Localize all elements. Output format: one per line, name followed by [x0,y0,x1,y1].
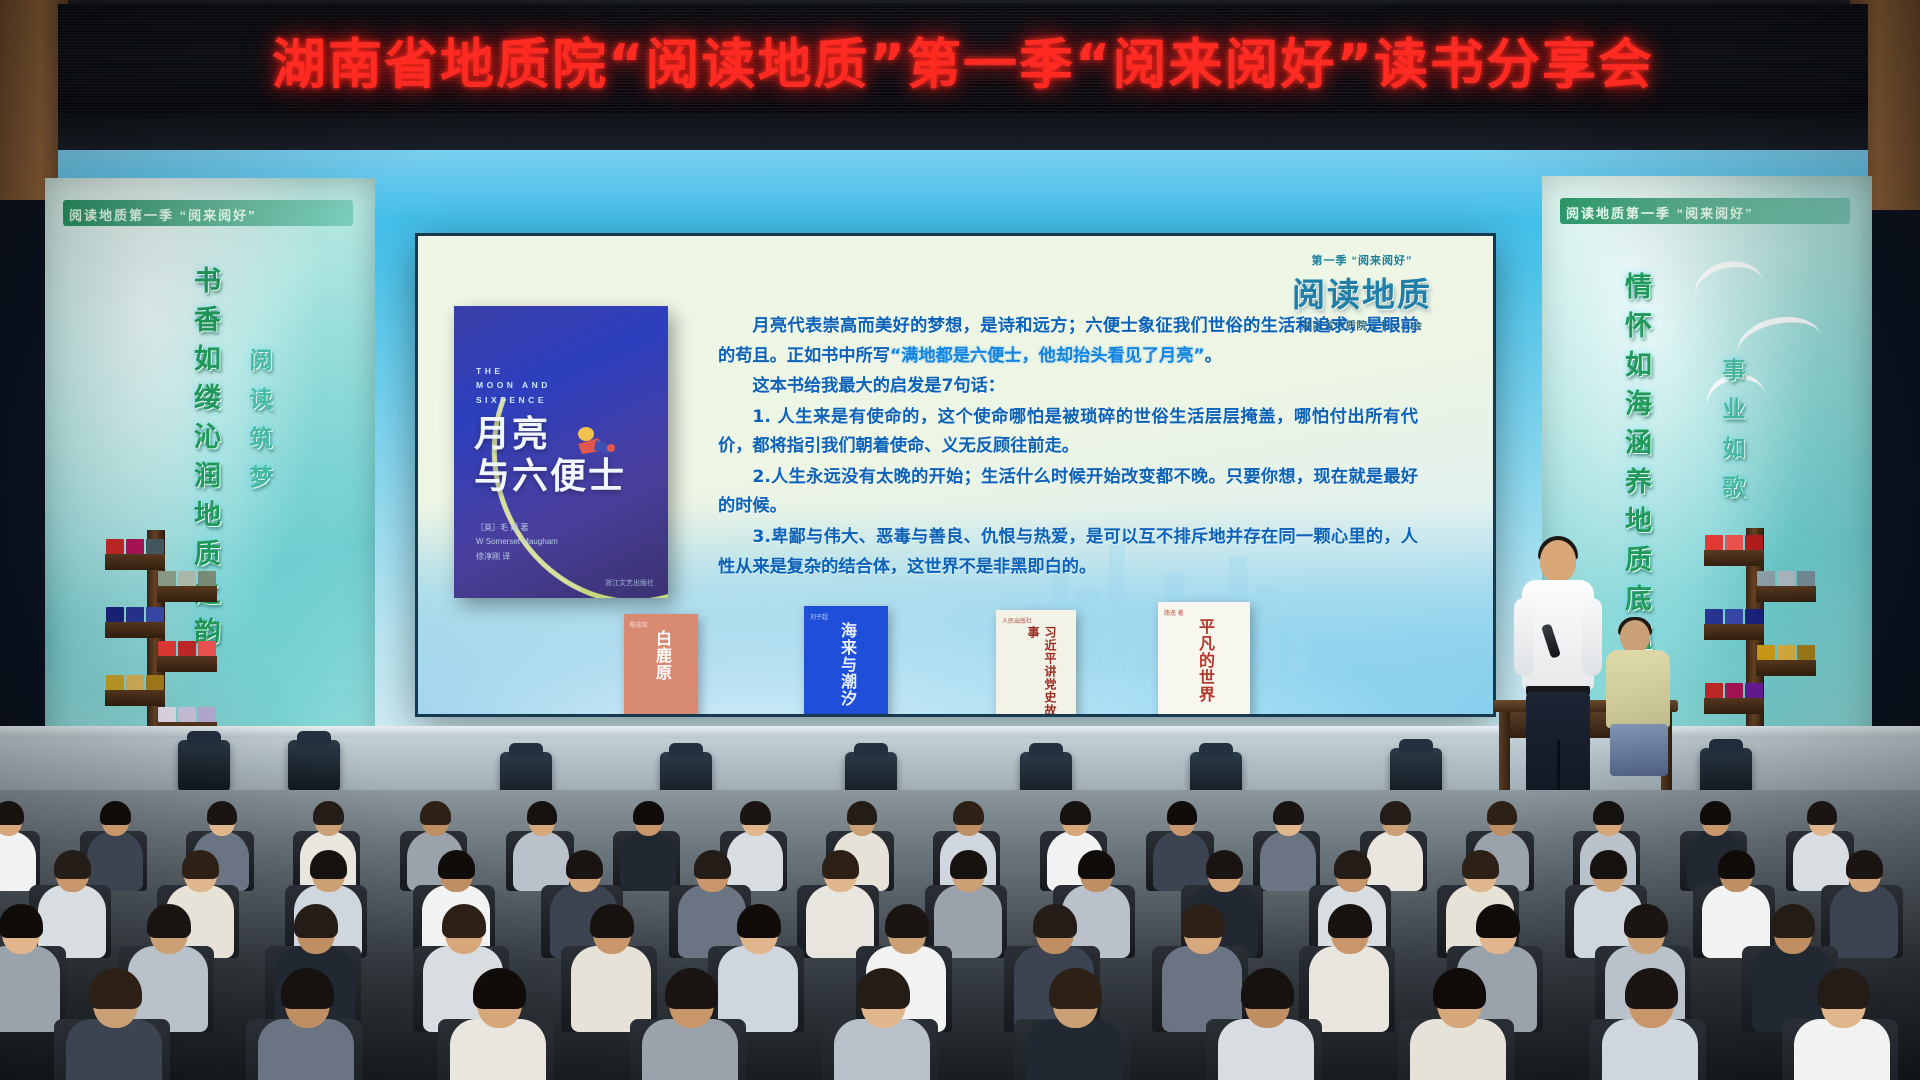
audience-member-hair [438,850,475,879]
seagull-icon [1690,255,1764,297]
bookshelf-shelf [1704,624,1764,640]
audience-member-hair [310,850,347,879]
audience-member-hair [527,801,558,825]
audience-member [1218,966,1314,1080]
slide-text-run: 。 [1205,346,1222,366]
left-panel-topband: 阅读地质第一季 “阅来阅好” [63,200,353,226]
slide-book-author: 路遥 著 [1164,608,1184,617]
audience-member [1830,848,1898,950]
audience-member-hair [1433,968,1486,1009]
host-legs [1610,724,1668,776]
audience-member-hair [590,904,634,938]
slide-book-author: 陈忠实 [630,620,648,629]
audience-member-hair [1590,850,1627,879]
audience-member-hair [442,904,486,938]
seagull-icon-group [1682,256,1842,426]
audience-member-torso [0,946,60,1032]
event-photo-scene: 湖南省地质院“阅读地质”第一季“阅来阅好”读书分享会 阅读地质第一季 “阅来阅好… [0,0,1920,1080]
audience-member-hair [1846,850,1883,879]
audience-member-torso [620,831,676,891]
bookshelf-books [106,539,164,554]
audience-member-hair [633,801,664,825]
audience-member-hair [1273,801,1304,825]
slide-paragraph: 1. 人生来是有使命的，这个使命哪怕是被琐碎的世俗生活层层掩盖，哪怕付出所有代价… [718,403,1418,462]
audience-member [571,902,651,1022]
slide-text-run: 3.卑鄙与伟大、恶毒与善良、仇恨与热爱，是可以互不排斥地并存在同一颗心里的，人性… [718,527,1418,577]
audience-member-hair [885,904,929,938]
audience-member-hair [1241,968,1294,1009]
audience-member-hair [1593,801,1624,825]
slide-body-text: 月亮代表崇高而美好的梦想，是诗和远方；六便士象征我们世俗的生活和追求，是眼前的苟… [718,312,1418,583]
audience-member [258,966,354,1080]
stage-par-light [288,740,340,792]
audience-member-hair [473,968,526,1009]
audience-member [1794,966,1890,1080]
bookshelf-shelf [1704,550,1764,566]
bookshelf-books [1705,683,1763,698]
audience-member-hair [281,968,334,1009]
bookshelf-books [106,675,164,690]
audience-member [66,966,162,1080]
slide-paragraph: 这本书给我最大的启发是7句话： [718,372,1418,402]
book-translator: 徐淳刚 译 [476,550,558,564]
audience-member-hair [207,801,238,825]
audience-member-hair [1060,801,1091,825]
slide-quote-highlight: “满地都是六便士，他却抬头看见了月亮” [890,346,1205,366]
presenter-head [1540,540,1576,582]
slide-book-cover: 海来与潮汐刘子超 [804,606,888,714]
audience-member-hair [0,801,24,825]
slide-paragraph: 2.人生永远没有太晚的开始；生活什么时候开始改变都不晚。只要你想，现在就是最好的… [718,463,1418,522]
audience-member-hair [665,968,718,1009]
slide-paragraph: 月亮代表崇高而美好的梦想，是诗和远方；六便士象征我们世俗的生活和追求，是眼前的苟… [718,312,1418,371]
audience-member [0,902,60,1022]
bookshelf-shelf [1756,660,1816,676]
audience-member-hair [1817,968,1870,1009]
audience-member [642,966,738,1080]
host-torso [1606,650,1670,728]
audience-member-hair [1033,904,1077,938]
slide-book-title: 平凡的世界 [1193,618,1217,703]
slide-book-row: 白鹿原陈忠实海来与潮汐刘子超习近平讲党史故事人民出版社平凡的世界路遥 著 [418,586,1493,714]
seated-host [1604,620,1674,770]
audience-member [1260,800,1316,884]
presenter-right-arm [1582,598,1602,676]
audience-member-hair [1771,904,1815,938]
bookshelf-books [158,641,216,656]
audience-member-hair [857,968,910,1009]
audience-member-hair [1049,968,1102,1009]
stage-par-light [178,740,230,792]
audience-member-hair [1334,850,1371,879]
audience-member [834,966,930,1080]
audience-member-hair [313,801,344,825]
left-backdrop-panel: 阅读地质第一季 “阅来阅好” 书香如缕沁润地质之韵 阅读筑梦 [45,178,375,818]
audience-member [1410,966,1506,1080]
audience-member [450,966,546,1080]
book-english-title: THE MOON AND SIXPENCE [476,364,551,407]
audience-member-hair [737,904,781,938]
bookshelf-shelf [1756,586,1816,602]
audience-member-hair [953,801,984,825]
slide-book-author: 刘子超 [810,612,828,621]
right-panel-topband-label: 阅读地质第一季 “阅来阅好” [1560,198,1850,227]
slide-text-run: 1. 人生来是有使命的，这个使命哪怕是被琐碎的世俗生活层层掩盖，哪怕付出所有代价… [718,407,1418,457]
audience-member [1309,902,1389,1022]
seated-figure-illustration-icon [572,424,616,458]
slide-book-title: 白鹿原 [650,630,674,681]
audience-member-torso [0,831,36,891]
audience-member [0,800,36,884]
audience-member-hair [1167,801,1198,825]
featured-book-cover: THE MOON AND SIXPENCE 月亮 与六便士 ［英］毛 姆 著 W… [454,306,668,598]
audience-member-hair [1380,801,1411,825]
audience-member [806,848,874,950]
left-panel-topband-label: 阅读地质第一季 “阅来阅好” [63,200,353,229]
slide-logo-subtitle: 第一季 “阅来阅好” [1257,252,1467,268]
audience-member-torso [1260,831,1316,891]
audience-member-hair [1078,850,1115,879]
audience-member-hair [740,801,771,825]
seagull-icon [1732,309,1822,354]
bookshelf-shelf [157,656,217,672]
slide-book-cover: 平凡的世界路遥 著 [1158,602,1250,714]
audience-member-hair [89,968,142,1009]
slide-paragraph: 3.卑鄙与伟大、恶毒与善良、仇恨与热爱，是可以互不排斥地并存在同一颗心里的，人性… [718,523,1418,582]
host-head [1620,620,1650,654]
audience-member-hair [1328,904,1372,938]
audience-member-hair [1807,801,1838,825]
audience-member [620,800,676,884]
audience-member-hair [54,850,91,879]
led-banner: 湖南省地质院“阅读地质”第一季“阅来阅好”读书分享会 [58,4,1868,114]
audience-member-hair [822,850,859,879]
audience-member-hair [1700,801,1731,825]
audience-member-hair [420,801,451,825]
bookshelf-books [1705,535,1763,550]
audience-member-hair [1476,904,1520,938]
audience-member-hair [950,850,987,879]
slide-logo-title: 阅读地质 [1257,268,1467,316]
audience-member-hair [1487,801,1518,825]
audience-member-hair [0,904,43,938]
audience-member-hair [1718,850,1755,879]
audience-member-hair [1206,850,1243,879]
slide-book-title: 习近平讲党史故事 [1025,626,1059,714]
left-panel-second-calligraphy: 阅读筑梦 [241,348,275,678]
audience-member-torso [1309,946,1389,1032]
bookshelf-books [1757,645,1815,660]
audience-member [1026,966,1122,1080]
bookshelf-shelf [105,690,165,706]
audience-member-hair [566,850,603,879]
bookshelf-books [158,707,216,722]
presentation-screen: 第一季 “阅来阅好” 阅读地质 湖南省地质院读书分享会 THE MOON AND… [418,236,1493,714]
right-panel-topband: 阅读地质第一季 “阅来阅好” [1560,198,1850,224]
slide-book-cover: 白鹿原陈忠实 [624,614,698,714]
audience-member-hair [294,904,338,938]
decorative-bookshelf-right [1696,528,1816,758]
audience-member-hair [1624,904,1668,938]
audience-member-hair [100,801,131,825]
book-author-cn: ［英］毛 姆 著 [476,521,558,535]
banner-title: 湖南省地质院“阅读地质”第一季“阅来阅好”读书分享会 [272,20,1654,99]
audience-member-hair [147,904,191,938]
bookshelf-shelf [1704,698,1764,714]
bookshelf-books [1757,571,1815,586]
bookshelf-books [106,607,164,622]
bookshelf-shelf [157,586,217,602]
bookshelf-books [1705,609,1763,624]
presenter-left-arm [1514,598,1534,676]
audience-member-torso [1830,885,1898,958]
slide-text-run: 这本书给我最大的启发是7句话： [752,376,1005,396]
slide-book-cover: 习近平讲党史故事人民出版社 [996,610,1076,714]
audience-member-hair [694,850,731,879]
book-author-en: W Somerset Maugham [476,535,558,549]
slide-book-author: 人民出版社 [1002,616,1032,625]
book-author-block: ［英］毛 姆 著 W Somerset Maugham 徐淳刚 译 [476,521,558,564]
slide-book-title: 海来与潮汐 [835,622,859,707]
audience-member-hair [1462,850,1499,879]
bookshelf-shelf [105,622,165,638]
audience-member [1602,966,1698,1080]
audience-member-hair [182,850,219,879]
seated-audience [0,790,1920,1080]
audience-member-hair [1181,904,1225,938]
audience-member-hair [1625,968,1678,1009]
audience-member-hair [847,801,878,825]
bookshelf-books [158,571,216,586]
bookshelf-shelf [105,554,165,570]
slide-text-run: 2.人生永远没有太晚的开始；生活什么时候开始改变都不晚。只要你想，现在就是最好的… [718,467,1418,517]
